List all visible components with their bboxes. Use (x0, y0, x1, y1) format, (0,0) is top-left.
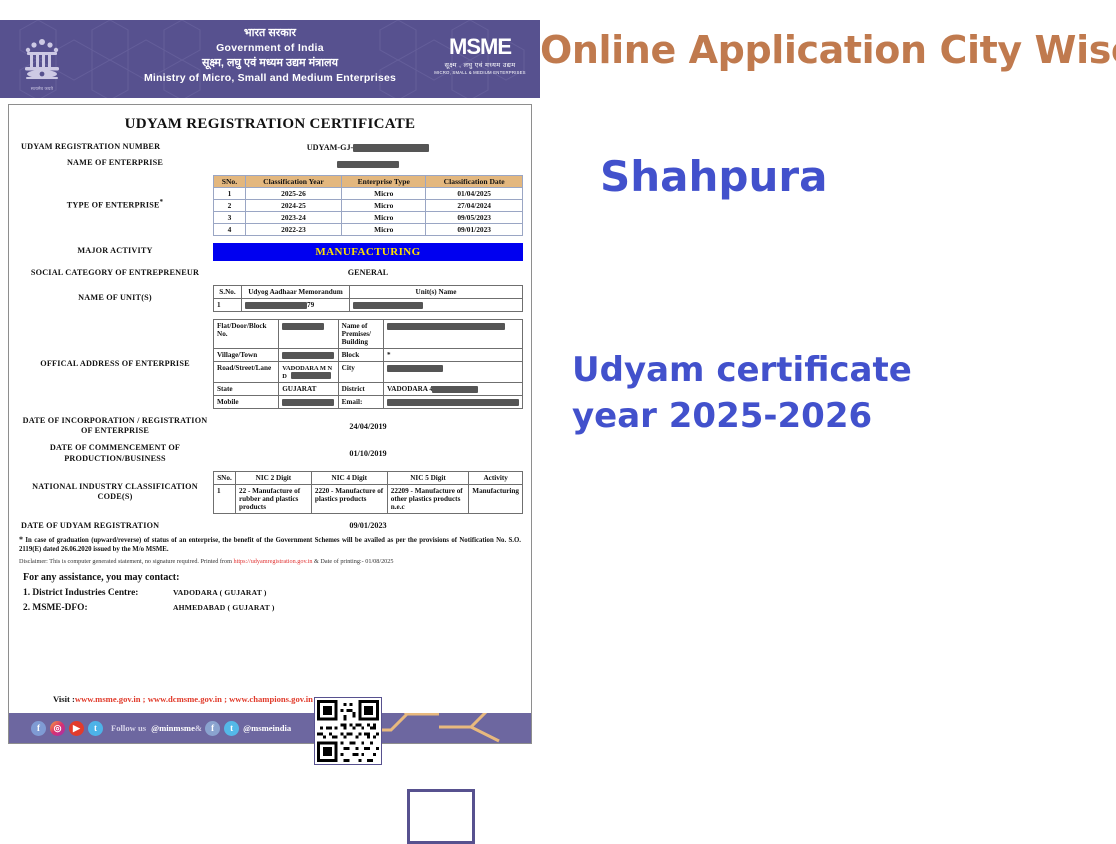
visit-links-bar: Visit : www.msme.gov.in ; www.dcmsme.gov… (9, 685, 531, 713)
enterprise-name-label: NAME OF ENTERPRISE (17, 158, 213, 168)
address-row: OFFICAL ADDRESS OF ENTERPRISE Flat/Door/… (17, 319, 523, 409)
cell-type: Micro (342, 223, 426, 235)
emblem-caption: सत्यमेव जयते (31, 86, 53, 92)
redacted-road (291, 372, 331, 379)
table-row: Village/Town Block * (214, 348, 523, 361)
enterprise-type-row: TYPE OF ENTERPRISE* SNo. Classification … (17, 175, 523, 236)
district-label: District (338, 382, 383, 395)
incorporation-row: DATE OF INCORPORATION / REGISTRATION OF … (17, 416, 523, 437)
udyam-registration-date-value: 09/01/2023 (213, 521, 523, 530)
cell-date: 01/04/2025 (426, 187, 523, 199)
road-value: VADODARA M N D (279, 361, 338, 382)
cell-type: Micro (342, 199, 426, 211)
msme-logo-hindi: सूक्ष्म , लघु एवं मध्यम उद्यम (432, 60, 528, 69)
registration-number-value: UDYAM-GJ- (213, 143, 523, 152)
cell-sno: 3 (214, 211, 246, 223)
premises-label: Name of Premises/ Building (338, 319, 383, 348)
cell-nic4: 2220 - Manufacture of plastics products (311, 484, 387, 513)
city-label: City (338, 361, 383, 382)
village-label: Village/Town (214, 348, 279, 361)
col-nic4: NIC 4 Digit (311, 471, 387, 484)
redacted-premises (387, 323, 505, 330)
cell-date: 09/01/2023 (426, 223, 523, 235)
road-label: Road/Street/Lane (214, 361, 279, 382)
twitter-icon[interactable]: t (88, 721, 103, 736)
redacted-village (282, 352, 334, 359)
cell-sno: 4 (214, 223, 246, 235)
udyam-registration-date-row: DATE OF UDYAM REGISTRATION 09/01/2023 (17, 521, 523, 531)
contact-row-dfo: 2. MSME-DFO: AHMEDABAD ( GUJARAT ) (23, 603, 521, 613)
col-nic5: NIC 5 Digit (387, 471, 469, 484)
asterisk-icon: * (160, 199, 164, 206)
table-row: 1 22 - Manufacture of rubber and plastic… (214, 484, 523, 513)
certificate-body: UDYAM REGISTRATION CERTIFICATE UDYAM REG… (8, 104, 532, 744)
table-row: 4 2022-23 Micro 09/01/2023 (214, 223, 523, 235)
cell-uam-suffix: 79 (307, 301, 314, 309)
major-activity-value-wrap: MANUFACTURING (213, 243, 523, 261)
social-category-value: GENERAL (213, 268, 523, 277)
certificate-title: UDYAM REGISTRATION CERTIFICATE (17, 116, 523, 133)
col-enterprise-type: Enterprise Type (342, 175, 426, 187)
msme-logo: MSME सूक्ष्म , लघु एवं मध्यम उद्यम MICRO… (432, 36, 528, 75)
address-label: OFFICAL ADDRESS OF ENTERPRISE (17, 359, 213, 369)
table-row: Flat/Door/Block No. Name of Premises/ Bu… (214, 319, 523, 348)
table-row: 2 2024-25 Micro 27/04/2024 (214, 199, 523, 211)
cell-year: 2025-26 (245, 187, 341, 199)
cell-date: 27/04/2024 (426, 199, 523, 211)
cell-type: Micro (342, 187, 426, 199)
redacted-city (387, 365, 443, 372)
follow-us-text: Follow us (111, 723, 146, 733)
table-row: State GUJARAT District VADODARA 45 (214, 382, 523, 395)
email-value (384, 395, 523, 408)
table-row: 1 2025-26 Micro 01/04/2025 (214, 187, 523, 199)
graduation-footnote-text: In case of graduation (upward/reverse) o… (19, 537, 521, 553)
col-activity: Activity (469, 471, 523, 484)
disclaimer-post: & Date of printing:- 01/08/2025 (313, 558, 394, 565)
redacted-registration-number (353, 144, 429, 152)
dic-value: VADODARA ( GUJARAT ) (173, 588, 267, 597)
commencement-row: DATE OF COMMENCEMENT OF PRODUCTION/BUSIN… (17, 443, 523, 464)
mobile-label: Mobile (214, 395, 279, 408)
district-value: VADODARA 45 (384, 382, 523, 395)
cell-year: 2023-24 (245, 211, 341, 223)
dfo-label: 2. MSME-DFO: (23, 603, 173, 613)
table-row: 3 2023-24 Micro 09/05/2023 (214, 211, 523, 223)
msme-logo-mark: MSME (432, 36, 528, 58)
disclaimer-pre: Disclaimer: This is computer generated s… (19, 558, 234, 565)
enterprise-type-label-text: TYPE OF ENTERPRISE (67, 201, 160, 210)
incorporation-label: DATE OF INCORPORATION / REGISTRATION OF … (17, 416, 213, 437)
cell-year: 2024-25 (245, 199, 341, 211)
cell-sno: 1 (214, 187, 246, 199)
nic-row: NATIONAL INDUSTRY CLASSIFICATION CODE(S)… (17, 471, 523, 514)
cell-sno: 1 (214, 298, 242, 311)
cell-nic2: 22 - Manufacture of rubber and plastics … (235, 484, 311, 513)
social-media-bar: f ◎ ▶ t Follow us @minmsme & f t @msmein… (9, 713, 531, 743)
certificate-footer: Visit : www.msme.gov.in ; www.dcmsme.gov… (9, 685, 531, 743)
facebook-icon[interactable]: f (31, 721, 46, 736)
certificate-year-note-line1: Udyam certificate (572, 348, 912, 394)
msme-logo-english: MICRO, SMALL & MEDIUM ENTERPRISES (432, 70, 528, 75)
city-value (384, 361, 523, 382)
village-value (279, 348, 338, 361)
dic-label: 1. District Industries Centre: (23, 588, 173, 598)
state-label: State (214, 382, 279, 395)
block-value: * (384, 348, 523, 361)
page-title: Online Application City Wise (540, 28, 1116, 72)
enterprise-type-label: TYPE OF ENTERPRISE* (17, 199, 213, 211)
unit-name-label: NAME OF UNIT(S) (17, 293, 213, 303)
col-sno: S.No. (214, 285, 242, 298)
redacted-email (387, 399, 519, 406)
col-sno: SNo. (214, 175, 246, 187)
redacted-flat (282, 323, 324, 330)
classification-table-wrap: SNo. Classification Year Enterprise Type… (213, 175, 523, 236)
cell-uam: 79 (242, 298, 350, 311)
table-row: Road/Street/Lane VADODARA M N D City (214, 361, 523, 382)
ministry-header-banner: सत्यमेव जयते भारत सरकार Government of In… (0, 20, 540, 98)
cell-activity: Manufacturing (469, 484, 523, 513)
incorporation-value: 24/04/2019 (213, 422, 523, 431)
col-nic2: NIC 2 Digit (235, 471, 311, 484)
social-category-row: SOCIAL CATEGORY OF ENTREPRENEUR GENERAL (17, 268, 523, 278)
minmsme-handle[interactable]: @minmsme (151, 723, 195, 733)
redacted-district (432, 386, 478, 393)
registration-number-prefix: UDYAM-GJ- (307, 143, 354, 152)
col-classification-year: Classification Year (245, 175, 341, 187)
registration-number-label: UDYAM REGISTRATION NUMBER (17, 142, 213, 152)
asterisk-icon: * (19, 535, 23, 544)
ampersand-text: & (195, 723, 202, 733)
twitter-icon[interactable]: t (224, 721, 239, 736)
address-table: Flat/Door/Block No. Name of Premises/ Bu… (213, 319, 523, 409)
commencement-value: 01/10/2019 (213, 449, 523, 458)
social-category-label: SOCIAL CATEGORY OF ENTREPRENEUR (17, 268, 213, 278)
instagram-icon[interactable]: ◎ (50, 721, 65, 736)
col-uam: Udyog Aadhaar Memorandum (242, 285, 350, 298)
major-activity-label: MAJOR ACTIVITY (17, 246, 213, 256)
annotation-pane: Online Application City Wise Shahpura Ud… (540, 0, 1116, 753)
flat-label: Flat/Door/Block No. (214, 319, 279, 348)
redacted-mobile (282, 399, 334, 406)
mobile-value (279, 395, 338, 408)
unit-name-row: NAME OF UNIT(S) S.No. Udyog Aadhaar Memo… (17, 285, 523, 312)
table-header-row: S.No. Udyog Aadhaar Memorandum Unit(s) N… (214, 285, 523, 298)
table-header-row: SNo. NIC 2 Digit NIC 4 Digit NIC 5 Digit… (214, 471, 523, 484)
graduation-footnote: * In case of graduation (upward/reverse)… (19, 535, 521, 555)
col-unit-name: Unit(s) Name (350, 285, 523, 298)
redacted-unit-name (353, 302, 423, 309)
redacted-enterprise-name (337, 161, 399, 168)
enterprise-name-row: NAME OF ENTERPRISE (17, 158, 523, 168)
email-label: Email: (338, 395, 383, 408)
disclaimer: Disclaimer: This is computer generated s… (19, 558, 521, 566)
cell-unit-name (350, 298, 523, 311)
visit-sites[interactable]: www.msme.gov.in ; www.dcmsme.gov.in ; ww… (75, 694, 313, 704)
city-name-heading: Shahpura (600, 152, 827, 201)
cell-type: Micro (342, 211, 426, 223)
facebook-icon[interactable]: f (205, 721, 220, 736)
msmeindia-handle[interactable]: @msmeindia (243, 723, 291, 733)
address-table-wrap: Flat/Door/Block No. Name of Premises/ Bu… (213, 319, 523, 409)
major-activity-banner: MANUFACTURING (213, 243, 523, 261)
udyam-certificate-panel: सत्यमेव जयते भारत सरकार Government of In… (0, 20, 540, 753)
cell-nic5: 22209 - Manufacture of other plastics pr… (387, 484, 469, 513)
footer-white-box (407, 789, 475, 844)
table-row: Mobile Email: (214, 395, 523, 408)
state-value: GUJARAT (279, 382, 338, 395)
cell-sno: 1 (214, 484, 236, 513)
flat-value (279, 319, 338, 348)
units-table: S.No. Udyog Aadhaar Memorandum Unit(s) N… (213, 285, 523, 312)
registration-number-row: UDYAM REGISTRATION NUMBER UDYAM-GJ- (17, 142, 523, 152)
cell-date: 09/05/2023 (426, 211, 523, 223)
enterprise-name-value (213, 159, 523, 168)
block-label: Block (338, 348, 383, 361)
commencement-label: DATE OF COMMENCEMENT OF PRODUCTION/BUSIN… (17, 443, 213, 464)
qr-code (314, 697, 382, 765)
redacted-uam (245, 302, 307, 309)
major-activity-row: MAJOR ACTIVITY MANUFACTURING (17, 243, 523, 261)
udyam-portal-link[interactable]: https://udyamregistration.gov.in (234, 558, 313, 565)
classification-table: SNo. Classification Year Enterprise Type… (213, 175, 523, 236)
dfo-value: AHMEDABAD ( GUJARAT ) (173, 603, 275, 612)
col-classification-date: Classification Date (426, 175, 523, 187)
youtube-icon[interactable]: ▶ (69, 721, 84, 736)
udyam-registration-date-label: DATE OF UDYAM REGISTRATION (17, 521, 213, 531)
nic-table: SNo. NIC 2 Digit NIC 4 Digit NIC 5 Digit… (213, 471, 523, 514)
cell-year: 2022-23 (245, 223, 341, 235)
nic-label: NATIONAL INDUSTRY CLASSIFICATION CODE(S) (17, 482, 213, 503)
premises-value (384, 319, 523, 348)
district-value-text: VADODARA 45 (387, 385, 437, 393)
contact-row-dic: 1. District Industries Centre: VADODARA … (23, 588, 521, 598)
cell-sno: 2 (214, 199, 246, 211)
certificate-year-note: Udyam certificate year 2025-2026 (572, 348, 912, 440)
table-row: 1 79 (214, 298, 523, 311)
table-header-row: SNo. Classification Year Enterprise Type… (214, 175, 523, 187)
certificate-year-note-line2: year 2025-2026 (572, 394, 912, 440)
assistance-heading: For any assistance, you may contact: (23, 572, 521, 583)
col-sno: SNo. (214, 471, 236, 484)
nic-table-wrap: SNo. NIC 2 Digit NIC 4 Digit NIC 5 Digit… (213, 471, 523, 514)
units-table-wrap: S.No. Udyog Aadhaar Memorandum Unit(s) N… (213, 285, 523, 312)
visit-label: Visit : (53, 694, 75, 704)
